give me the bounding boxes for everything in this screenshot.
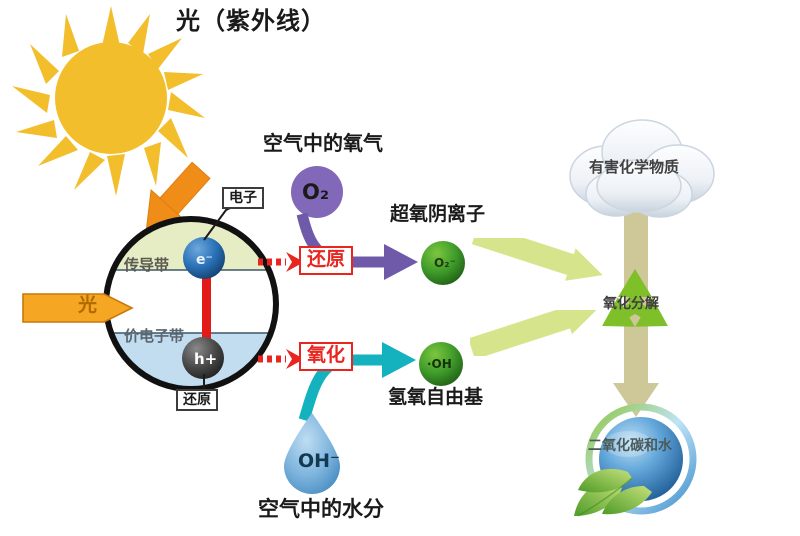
electron-callout: 电子	[222, 187, 264, 209]
conduction-band-label: 传导带	[124, 258, 169, 273]
oxidative-decomposition-label: 氧化分解	[603, 297, 659, 311]
decomposition-arrow-lower-icon	[470, 310, 610, 356]
oxygen-symbol: O₂	[302, 180, 329, 204]
diagram-canvas: 光（紫外线） 传导带 价电子带 e⁻	[0, 0, 800, 536]
hydroxyl-symbol: ·OH	[427, 357, 452, 371]
oxidation-reaction-badge: 氧化	[299, 342, 353, 371]
valence-band-label: 价电子带	[124, 329, 184, 344]
superoxide-anion-label: 超氧阴离子	[390, 205, 485, 224]
hole-symbol: h+	[194, 350, 217, 368]
co2-and-water-label: 二氧化碳和水	[588, 439, 672, 453]
superoxide-symbol: O₂⁻	[434, 256, 456, 270]
page-title: 光（紫外线）	[176, 9, 326, 33]
electron-symbol: e⁻	[196, 252, 213, 268]
reduction-reaction-badge: 还原	[299, 246, 353, 275]
hydroxide-symbol: OH⁻	[298, 450, 340, 472]
oxygen-in-air-label: 空气中的氧气	[263, 133, 383, 153]
moisture-in-air-label: 空气中的水分	[258, 499, 384, 520]
light-arrow-label: 光	[78, 296, 97, 315]
reduction-callout: 还原	[176, 389, 218, 411]
decomposition-arrow-upper-icon	[470, 238, 610, 284]
co2-water-globe-icon	[572, 400, 708, 530]
hydroxyl-radical-label: 氢氧自由基	[388, 388, 483, 407]
harmful-chemicals-label: 有害化学物质	[589, 160, 679, 175]
